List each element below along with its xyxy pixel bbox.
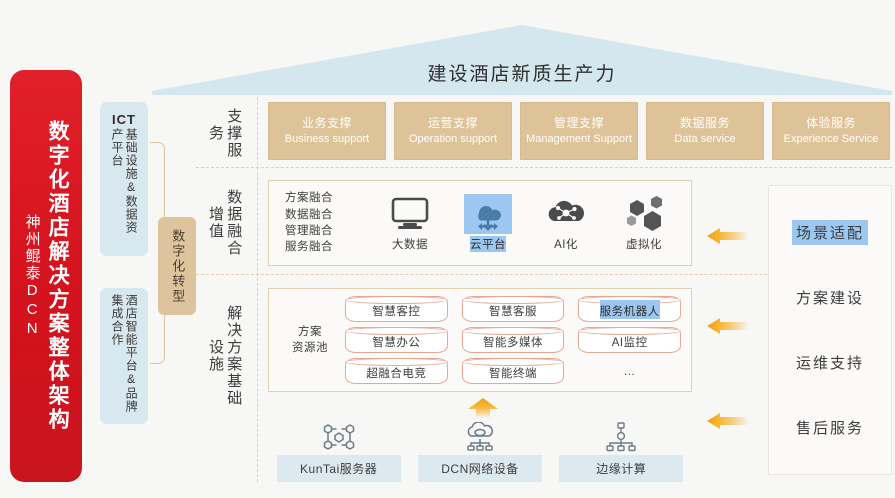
row-label-solution: 解决方案基础设施 xyxy=(196,296,252,416)
right-service-list: 场景适配方案建设运维支持售后服务 xyxy=(769,186,891,474)
pool-item-label: 服务机器人 xyxy=(600,300,660,319)
row-label-support-text: 支撑服务 xyxy=(206,104,243,162)
ai-cloud-icon xyxy=(545,194,587,234)
support-service-en: Data service xyxy=(674,132,735,146)
pool-grid: 智慧客控智慧客服服务机器人智慧办公智能多媒体AI监控超融合电竞智能终端… xyxy=(341,296,681,384)
fusion-item-大数据[interactable]: 大数据 xyxy=(379,194,441,252)
right-service-item[interactable]: 方案建设 xyxy=(792,285,868,310)
support-service-cell-1[interactable]: 业务支撑 Business support xyxy=(268,102,386,160)
hardware-item-label: KunTai服务器 xyxy=(277,455,401,482)
support-services-row: 业务支撑 Business support运营支撑 Operation supp… xyxy=(268,102,890,160)
support-service-cn: 运营支撑 xyxy=(428,116,478,131)
left-arrow-icon-3 xyxy=(707,412,749,430)
support-service-cn: 业务支撑 xyxy=(302,116,352,131)
row-label-support: 支撑服务 xyxy=(196,104,252,162)
hardware-row: KunTai服务器 DCN网络设备 边缘计算 xyxy=(268,420,692,482)
support-service-cn: 管理支撑 xyxy=(554,116,604,131)
fusion-item-云平台[interactable]: 云平台 xyxy=(457,194,519,252)
fusion-item-label: AI化 xyxy=(554,236,578,252)
pool-item[interactable]: 智慧办公 xyxy=(345,327,448,353)
right-service-panel: 场景适配方案建设运维支持售后服务 xyxy=(768,185,892,475)
hardware-item[interactable]: KunTai服务器 xyxy=(277,422,401,482)
right-service-item[interactable]: 场景适配 xyxy=(792,220,868,245)
fusion-list: 方案融合数据融合管理融合服务融合 xyxy=(277,190,371,255)
hardware-item-label: 边缘计算 xyxy=(559,455,683,482)
cloud-network-icon xyxy=(462,422,498,452)
edge-node-icon xyxy=(604,422,638,452)
pool-item-label: 智能终端 xyxy=(489,362,537,381)
right-service-item[interactable]: 售后服务 xyxy=(792,415,868,440)
pool-item[interactable]: 服务机器人 xyxy=(578,296,681,322)
digital-transformation-label: 数字化转型 xyxy=(170,229,185,304)
stage-hotel-text: 酒店智能平台&品牌集成合作 xyxy=(110,294,138,418)
left-arrow-icon-1 xyxy=(707,227,749,245)
pool-item-label: AI监控 xyxy=(612,331,648,350)
right-service-item[interactable]: 运维支持 xyxy=(792,350,868,375)
support-service-en: Management Support xyxy=(526,132,632,146)
pool-label-line2: 资源池 xyxy=(279,340,341,356)
row-label-fusion-text: 数据融合增值 xyxy=(206,185,243,261)
banner-main-title: 数字化酒店解决方案整体架构 xyxy=(46,120,70,432)
virtualization-cubes-icon xyxy=(624,194,664,234)
pool-item[interactable]: 智能终端 xyxy=(462,358,565,384)
pool-item-label: … xyxy=(624,363,636,378)
title-banner: 数字化酒店解决方案整体架构 神州鲲泰DCN xyxy=(10,70,82,482)
data-fusion-panel: 方案融合数据融合管理融合服务融合 大数据 云平台 AI化 虚拟化 xyxy=(268,180,692,266)
monitor-icon xyxy=(390,194,430,234)
fusion-item-label: 虚拟化 xyxy=(626,236,662,252)
pool-label-line1: 方案 xyxy=(279,324,341,340)
pool-item[interactable]: 超融合电竞 xyxy=(345,358,448,384)
pool-item[interactable]: 智慧客服 xyxy=(462,296,565,322)
support-service-cell-5[interactable]: 体验服务 Experience Service xyxy=(772,102,890,160)
stage-ict-cap: ICT xyxy=(112,112,136,127)
row-label-solution-text: 解决方案基础设施 xyxy=(206,300,243,412)
pool-item-label: 智慧客服 xyxy=(489,300,537,319)
fusion-list-item: 服务融合 xyxy=(285,239,371,255)
fusion-item-label: 云平台 xyxy=(470,236,506,252)
pool-item[interactable]: 智能多媒体 xyxy=(462,327,565,353)
fusion-list-item: 管理融合 xyxy=(285,223,371,239)
support-service-cell-2[interactable]: 运营支撑 Operation support xyxy=(394,102,512,160)
vertical-dashed-divider xyxy=(257,97,258,482)
fusion-items: 大数据 云平台 AI化 虚拟化 xyxy=(371,194,683,252)
support-service-cn: 体验服务 xyxy=(806,116,856,131)
solution-resource-pool-panel: 方案 资源池 智慧客控智慧客服服务机器人智慧办公智能多媒体AI监控超融合电竞智能… xyxy=(268,288,692,392)
row-label-fusion: 数据融合增值 xyxy=(196,182,252,264)
roof-title: 建设酒店新质生产力 xyxy=(152,25,892,95)
support-service-cell-4[interactable]: 数据服务 Data service xyxy=(646,102,764,160)
stage-card-hotel[interactable]: 酒店智能平台&品牌集成合作 xyxy=(100,288,148,424)
pool-item-label: 智慧客控 xyxy=(372,300,420,319)
pool-item[interactable]: AI监控 xyxy=(578,327,681,353)
digital-transformation-box[interactable]: 数字化转型 xyxy=(158,217,196,315)
fusion-list-item: 方案融合 xyxy=(285,190,371,206)
pool-item-label: 智慧办公 xyxy=(372,331,420,350)
pool-item[interactable]: … xyxy=(578,358,681,382)
support-service-cn: 数据服务 xyxy=(680,116,730,131)
banner-sub-title: 神州鲲泰DCN xyxy=(23,214,40,339)
server-mesh-icon xyxy=(322,422,356,452)
roof-shape: 建设酒店新质生产力 xyxy=(152,25,892,95)
pool-label: 方案 资源池 xyxy=(279,324,341,356)
hardware-item-label: DCN网络设备 xyxy=(418,455,542,482)
support-service-en: Operation support xyxy=(409,132,497,146)
hardware-item[interactable]: DCN网络设备 xyxy=(418,422,542,482)
pool-item-label: 超融合电竞 xyxy=(366,362,426,381)
stage-card-ict[interactable]: ICT 基础设施&数据资产平台 xyxy=(100,102,148,256)
support-service-cell-3[interactable]: 管理支撑 Management Support xyxy=(520,102,638,160)
stage-ict-text: 基础设施&数据资产平台 xyxy=(110,128,138,246)
fusion-item-label: 大数据 xyxy=(392,236,428,252)
left-arrow-icon-2 xyxy=(707,317,749,335)
pool-item-label: 智能多媒体 xyxy=(483,331,543,350)
hardware-item[interactable]: 边缘计算 xyxy=(559,422,683,482)
fusion-item-AI化[interactable]: AI化 xyxy=(535,194,597,252)
support-service-en: Business support xyxy=(285,132,369,146)
pool-item[interactable]: 智慧客控 xyxy=(345,296,448,322)
fusion-list-item: 数据融合 xyxy=(285,207,371,223)
fusion-item-虚拟化[interactable]: 虚拟化 xyxy=(613,194,675,252)
cloud-sync-icon xyxy=(464,194,512,234)
support-service-en: Experience Service xyxy=(784,132,879,146)
horizontal-dashed-divider-1 xyxy=(196,167,892,168)
architecture-diagram: 数字化酒店解决方案整体架构 神州鲲泰DCN 建设酒店新质生产力 ICT 基础设施… xyxy=(0,0,895,498)
